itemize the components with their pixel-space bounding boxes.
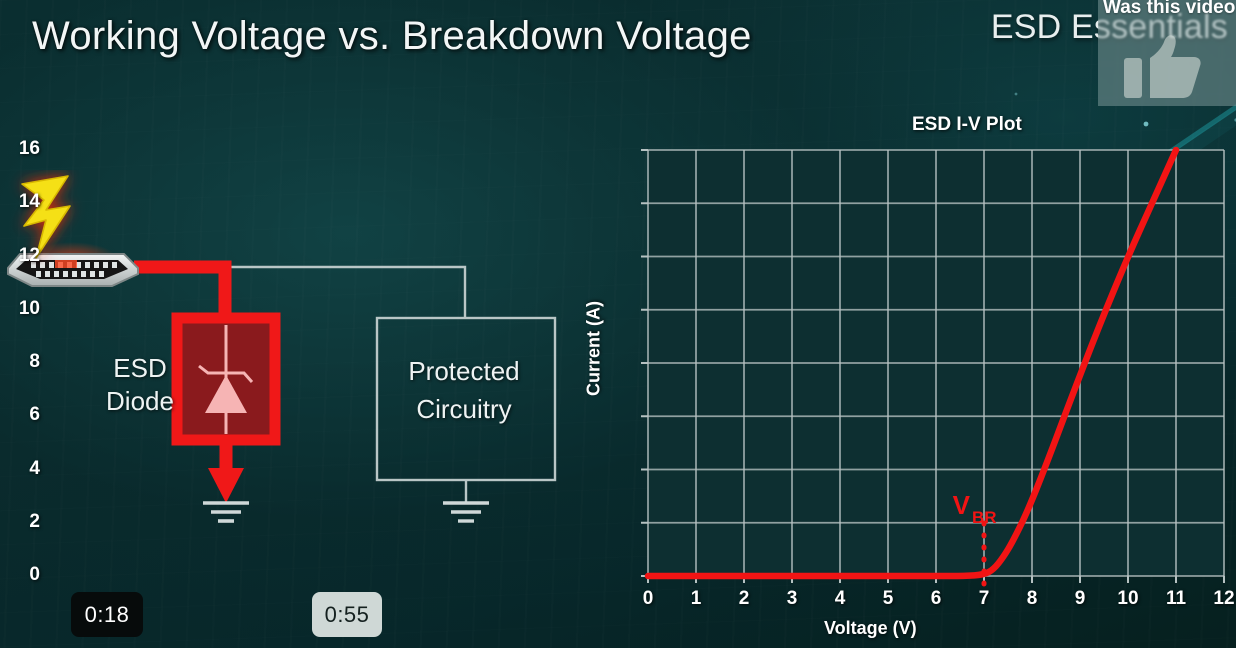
breakdown-voltage-sublabel: BR	[972, 508, 997, 527]
y-tick-label-14: 14	[0, 191, 40, 213]
chart-plot-area: VBR	[576, 110, 1236, 648]
esd-diode-label-line2: Diode	[88, 385, 192, 418]
survey-overlay[interactable]: Was this video	[1098, 0, 1236, 106]
ground-icon	[203, 503, 249, 521]
y-tick-label-12: 12	[0, 245, 40, 267]
y-tick-label-0: 0	[0, 564, 40, 586]
esd-protection-wire	[134, 267, 225, 318]
thumbs-up-icon[interactable]	[1124, 34, 1202, 100]
protected-circuitry-label: Protected Circuitry	[382, 352, 546, 428]
y-tick-label-16: 16	[0, 138, 40, 160]
timestamp-chip-current[interactable]: 0:18	[71, 592, 143, 637]
y-tick-label-6: 6	[0, 404, 40, 426]
page-title: Working Voltage vs. Breakdown Voltage	[32, 14, 752, 59]
y-tick-label-4: 4	[0, 458, 40, 480]
esd-iv-chart: ESD I-V Plot Current (A) Voltage (V) 024…	[576, 110, 1236, 648]
video-frame: Working Voltage vs. Breakdown Voltage ES…	[0, 0, 1236, 648]
ground-icon	[443, 503, 489, 521]
breakdown-voltage-label: V	[953, 490, 971, 520]
esd-diode-label-line1: ESD	[88, 352, 192, 385]
y-tick-label-10: 10	[0, 298, 40, 320]
survey-question-text: Was this video	[1103, 0, 1235, 19]
esd-diode-label: ESD Diode	[88, 352, 192, 418]
signal-wire	[140, 267, 465, 318]
protected-circuitry-label-line2: Circuitry	[382, 390, 546, 428]
y-tick-label-8: 8	[0, 351, 40, 373]
protected-circuitry-label-line1: Protected	[382, 352, 546, 390]
esd-discharge-arrow	[203, 440, 249, 521]
timestamp-chip-total[interactable]: 0:55	[312, 592, 382, 637]
y-tick-label-2: 2	[0, 511, 40, 533]
